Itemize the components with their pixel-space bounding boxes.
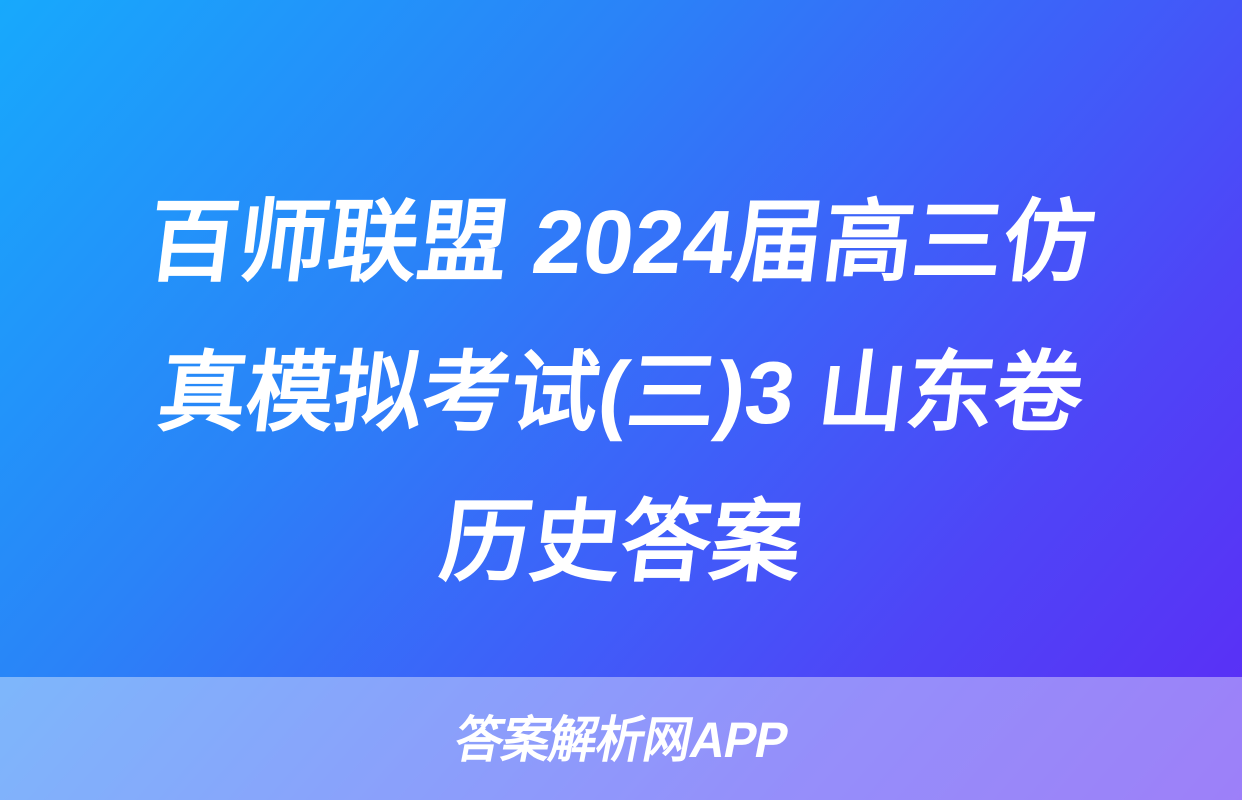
footer-watermark-band: 答案解析网APP	[0, 677, 1242, 800]
app-watermark-label: 答案解析网APP	[451, 715, 792, 765]
page-title-line-2: 真模拟考试(三)3 山东卷	[61, 318, 1181, 468]
poster-canvas: 百师联盟 2024届高三仿 真模拟考试(三)3 山东卷 历史答案 答案解析网AP…	[0, 0, 1242, 800]
page-title-line-1: 百师联盟 2024届高三仿	[61, 168, 1181, 318]
page-title-line-3: 历史答案	[61, 468, 1181, 618]
page-title: 百师联盟 2024届高三仿 真模拟考试(三)3 山东卷 历史答案	[0, 168, 1242, 618]
